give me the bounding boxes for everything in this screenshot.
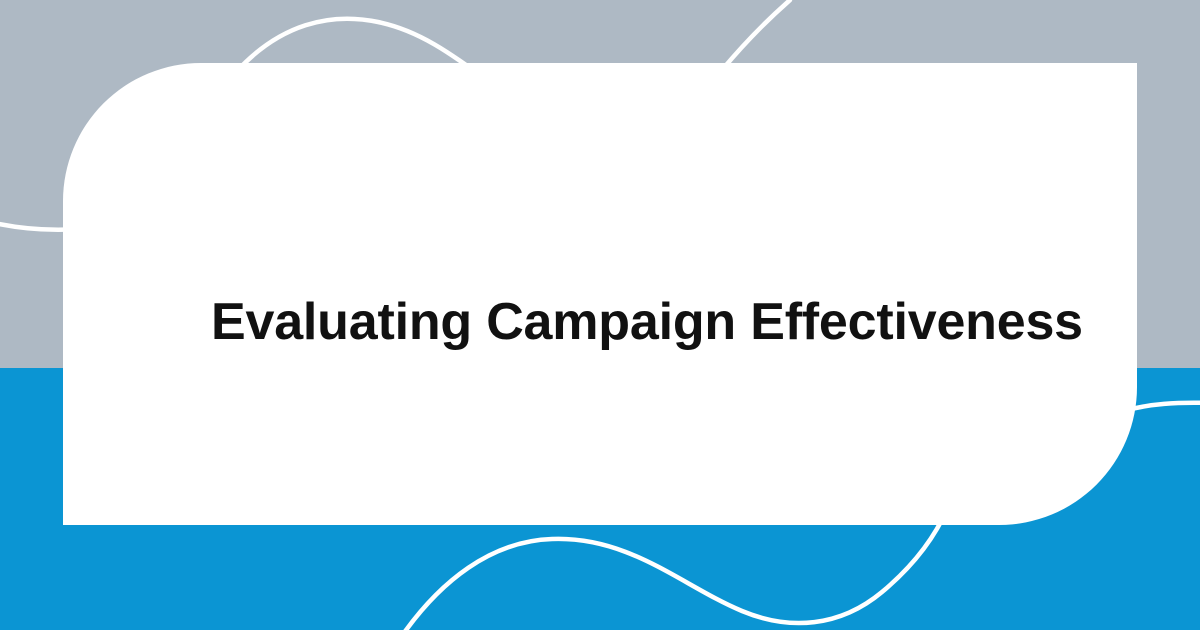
page-title: Evaluating Campaign Effectiveness bbox=[211, 292, 1111, 352]
white-line-right-icon bbox=[1128, 403, 1200, 410]
white-wave-top-tail-icon bbox=[722, 0, 790, 70]
poster-canvas: Evaluating Campaign Effectiveness bbox=[0, 0, 1200, 630]
